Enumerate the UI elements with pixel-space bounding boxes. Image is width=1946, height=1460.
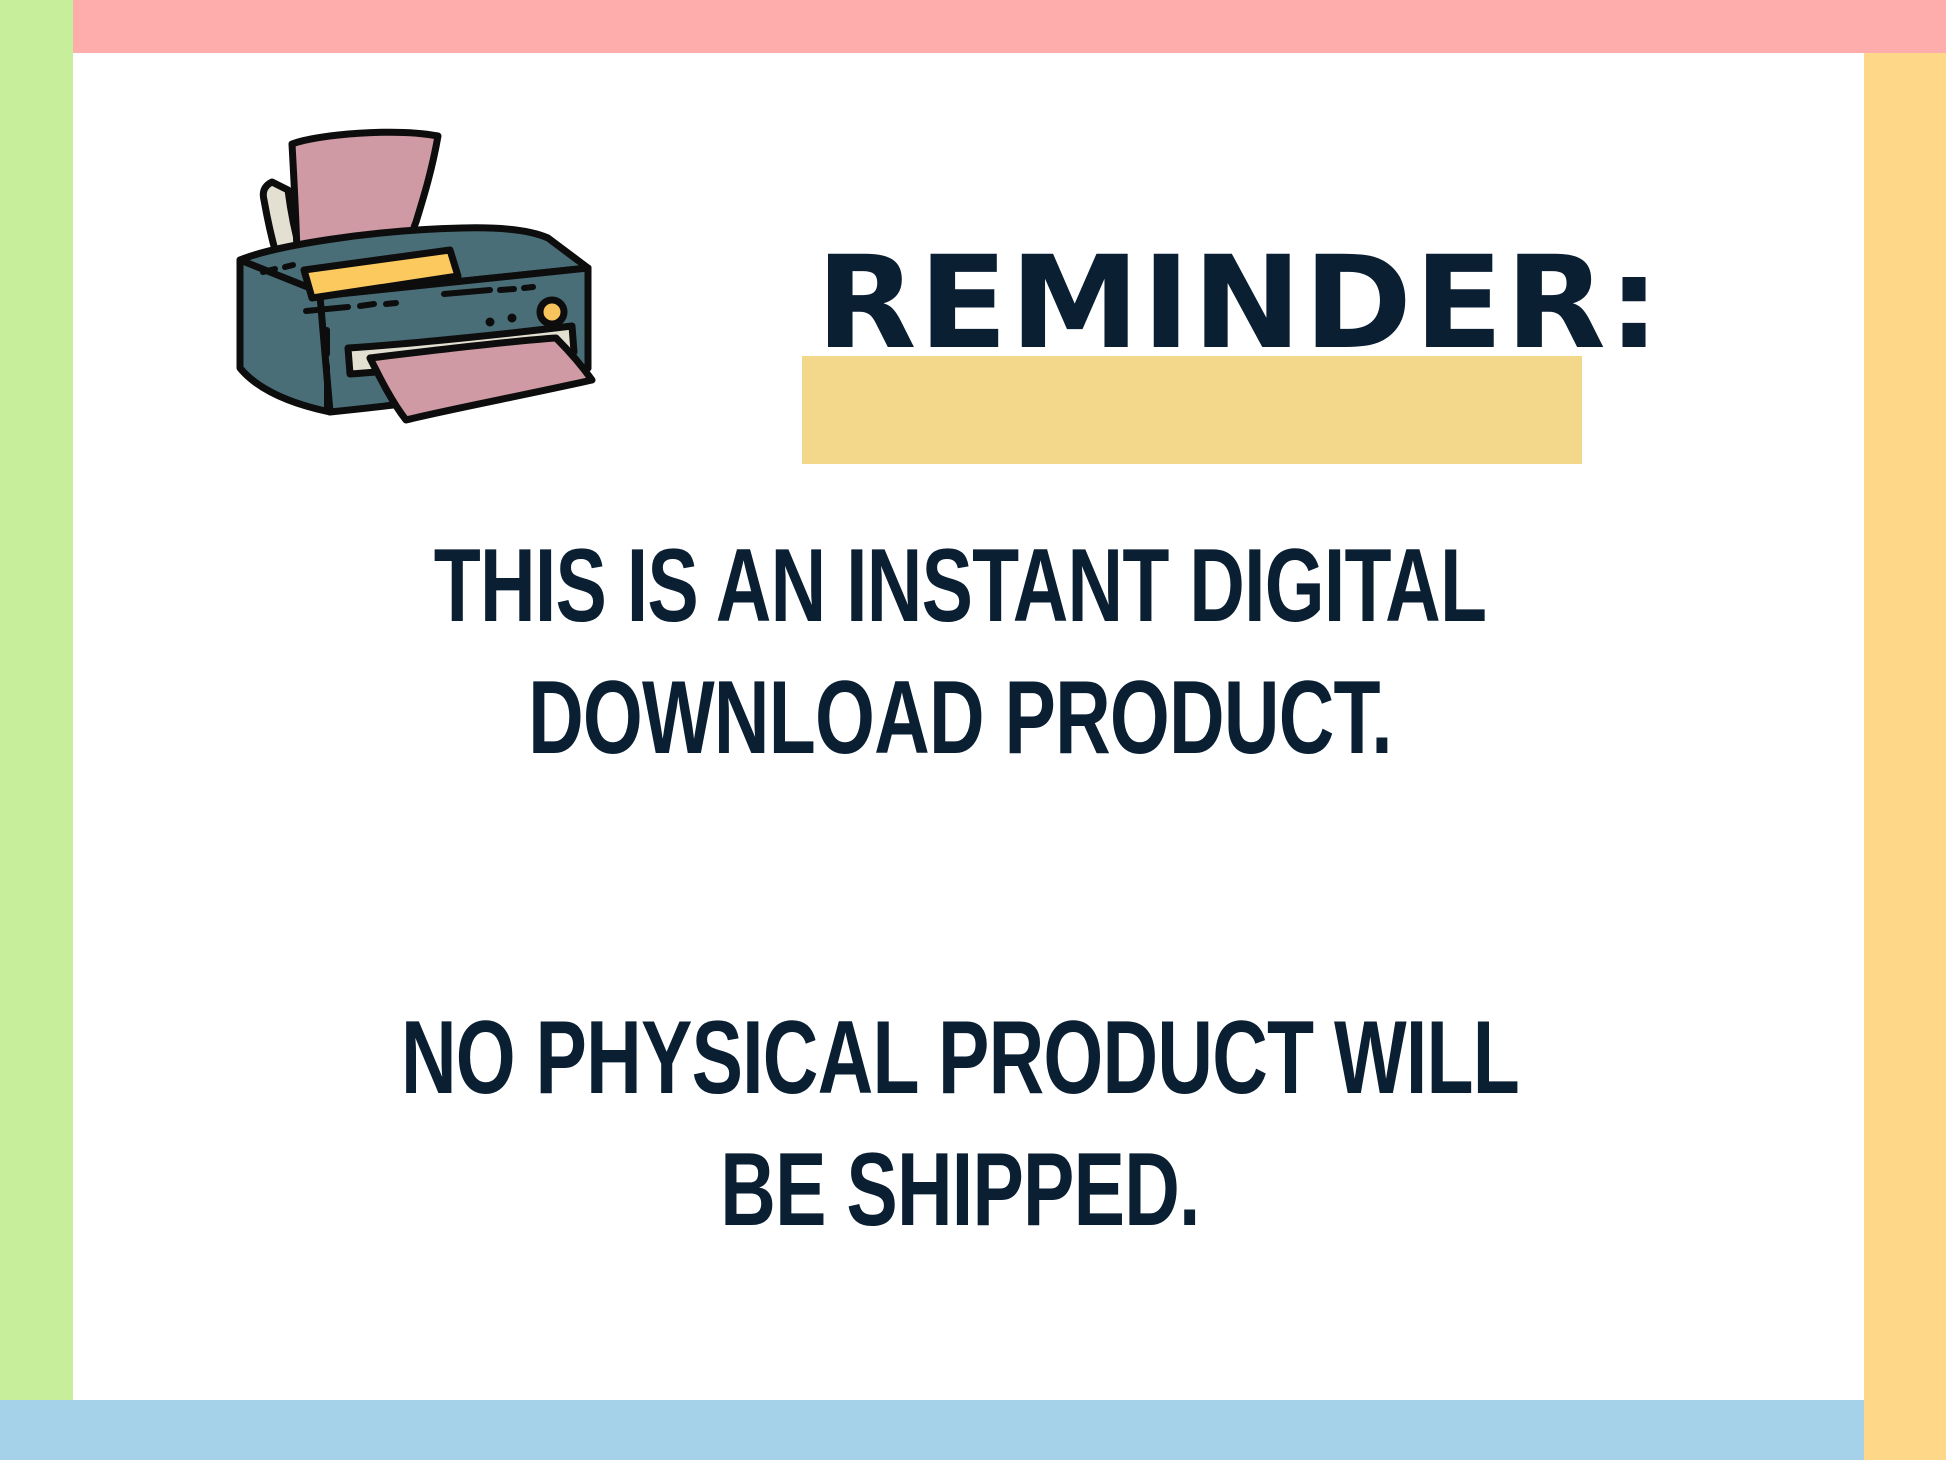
paragraph-two-line-two: BE SHIPPED. <box>361 1124 1560 1256</box>
paragraph-two-line-one: NO PHYSICAL PRODUCT WILL <box>361 992 1560 1124</box>
decor-bar-right-yellow <box>1864 53 1946 1460</box>
body-copy: THIS IS AN INSTANT DIGITAL DOWNLOAD PROD… <box>150 520 1770 1256</box>
poster-canvas: REMINDER: THIS IS AN INSTANT DIGITAL DOW… <box>0 0 1946 1460</box>
page-title: REMINDER: <box>816 240 1618 368</box>
printer-button-2 <box>486 318 495 327</box>
paragraph-one-line-two: DOWNLOAD PRODUCT. <box>361 652 1560 784</box>
heading-block: REMINDER: <box>802 240 1602 470</box>
printer-button-1 <box>508 314 517 323</box>
printer-indicator-light <box>540 300 564 324</box>
printer-icon <box>200 100 620 430</box>
decor-bar-top-pink <box>73 0 1946 53</box>
paragraph-one-line-one: THIS IS AN INSTANT DIGITAL <box>361 520 1560 652</box>
decor-bar-bottom-blue <box>0 1400 1864 1460</box>
decor-bar-left-green <box>0 0 73 1400</box>
